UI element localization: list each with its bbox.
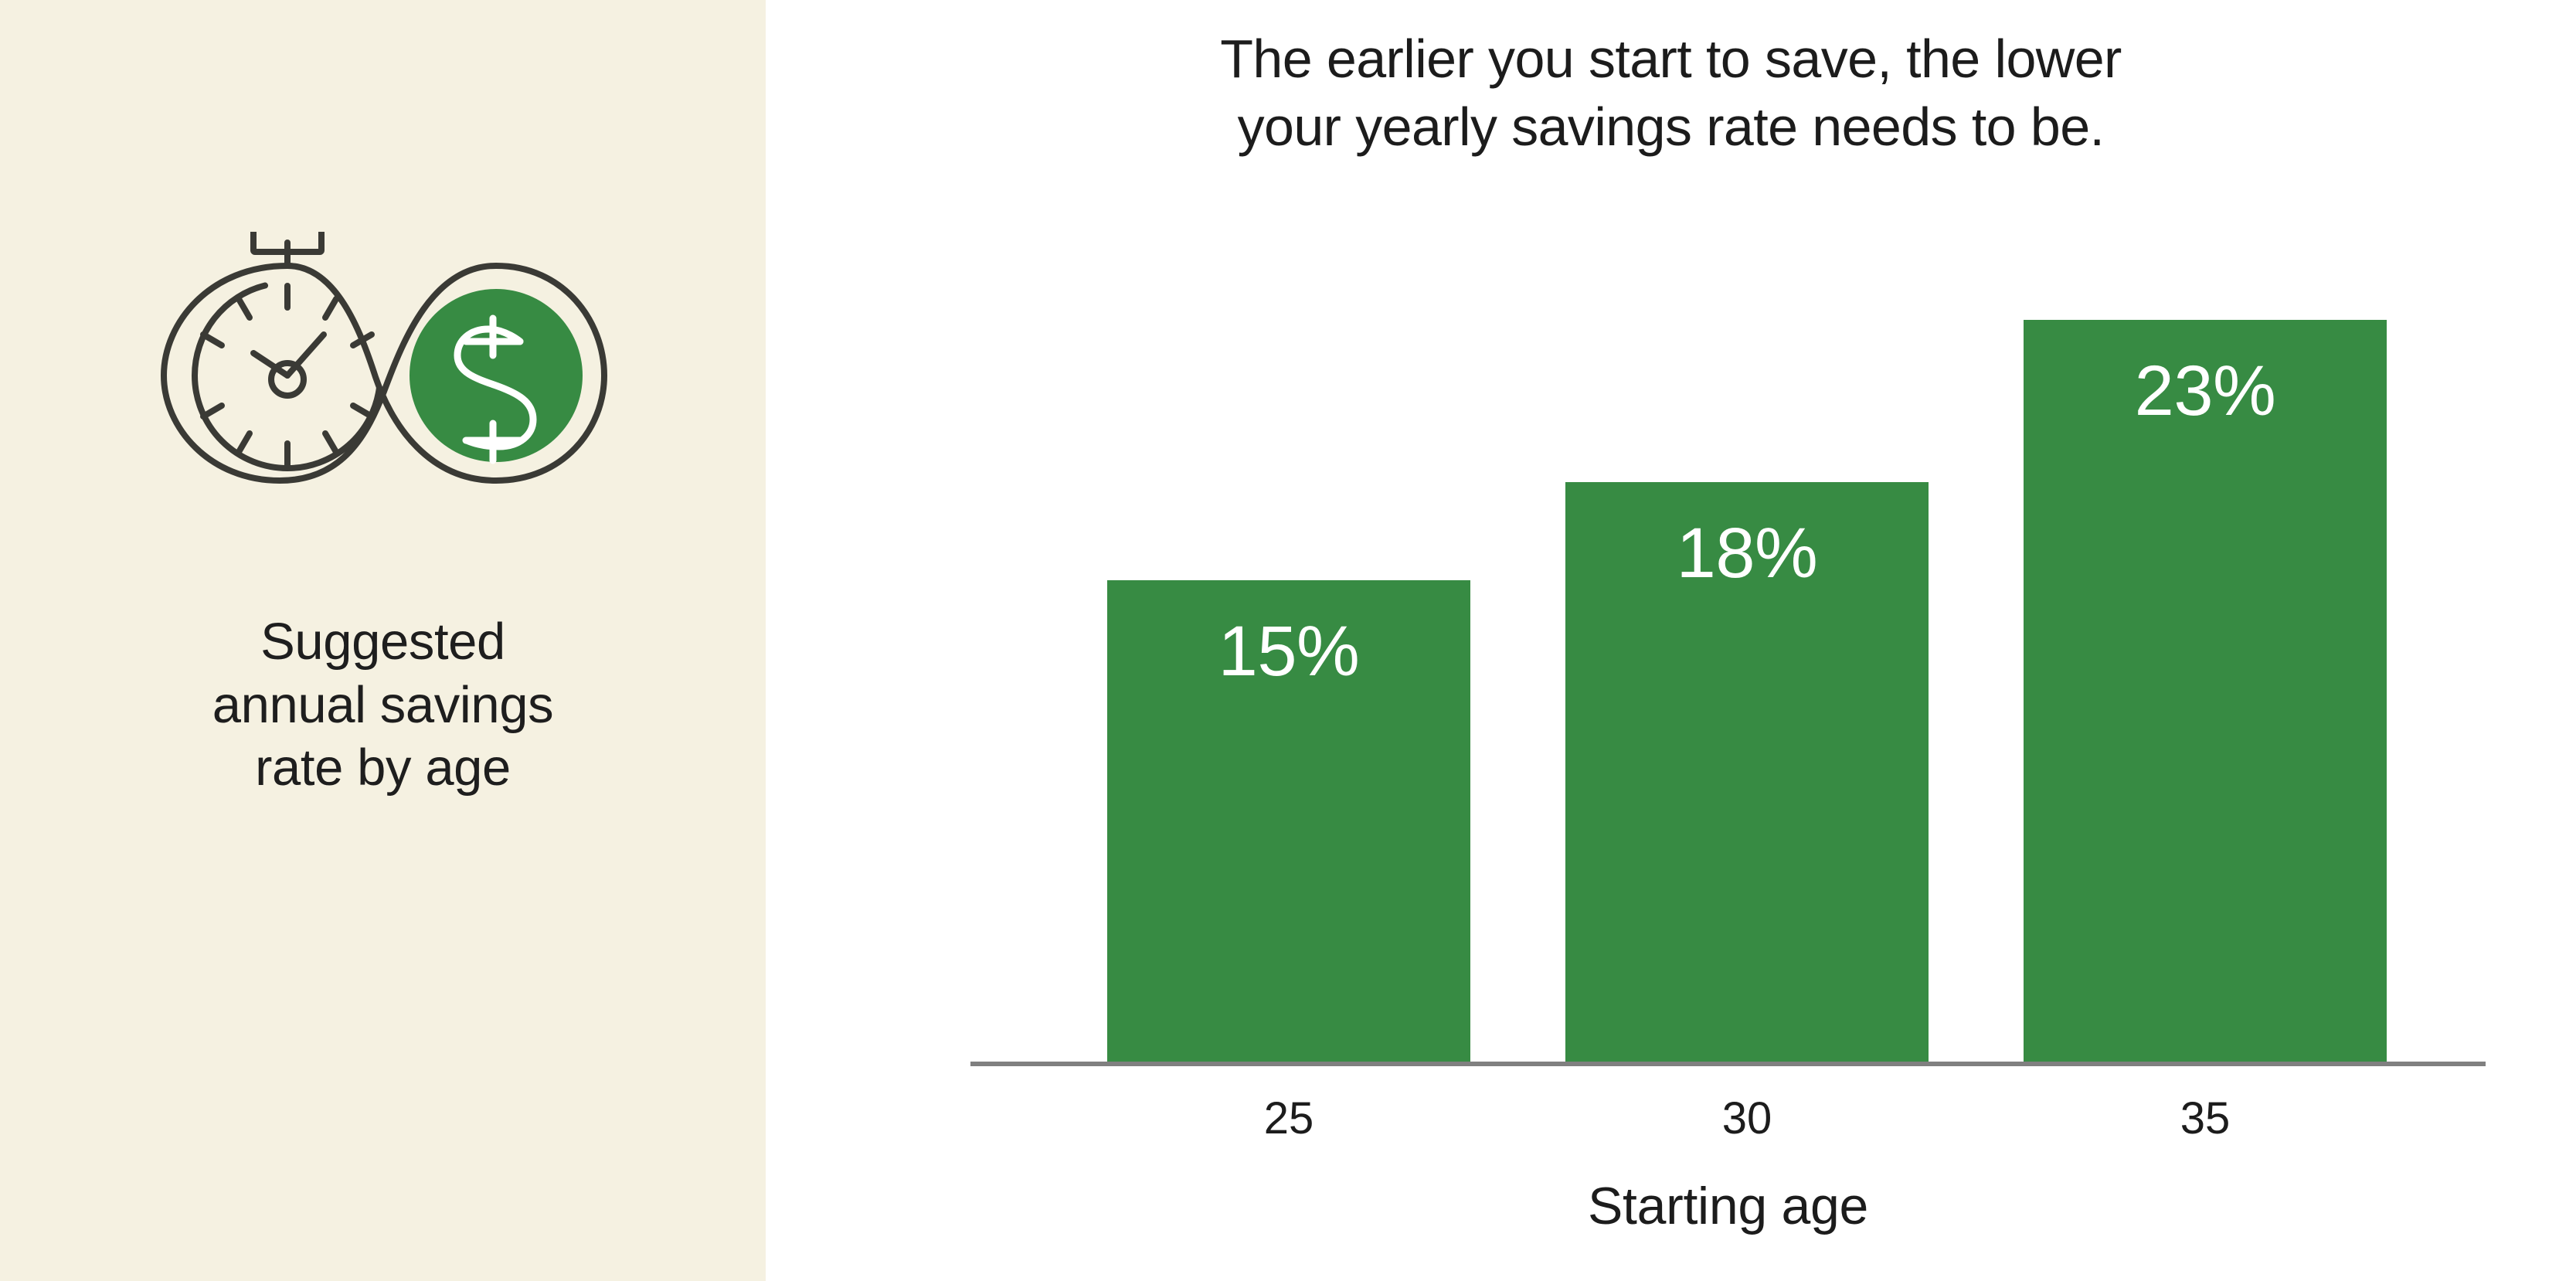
- x-axis-line: [970, 1062, 2486, 1066]
- stopwatch-dollar-infinity-icon: [136, 232, 630, 494]
- x-tick-label-25: 25: [1107, 1092, 1470, 1144]
- bar-35[interactable]: 23%: [2024, 320, 2387, 1064]
- bar-value-label-30: 18%: [1565, 518, 1929, 589]
- chart-panel: The earlier you start to save, the lower…: [766, 0, 2576, 1281]
- bar-30[interactable]: 18%: [1565, 482, 1929, 1064]
- bar-value-label-35: 23%: [2024, 355, 2387, 426]
- infographic-root: Suggested annual savings rate by age The…: [0, 0, 2576, 1281]
- x-axis-title: Starting age: [970, 1176, 2486, 1236]
- bar-chart-plot: 15% 18% 23% 25 30 35 Starting age: [766, 0, 2576, 1281]
- caption-line-2: annual savings: [62, 674, 704, 737]
- icon-container: [0, 232, 766, 494]
- left-panel: Suggested annual savings rate by age: [0, 0, 766, 1281]
- left-panel-caption: Suggested annual savings rate by age: [0, 610, 766, 800]
- x-tick-label-30: 30: [1565, 1092, 1929, 1144]
- bar-25[interactable]: 15%: [1107, 580, 1470, 1064]
- x-tick-label-35: 35: [2024, 1092, 2387, 1144]
- caption-line-3: rate by age: [62, 736, 704, 800]
- bar-value-label-25: 15%: [1107, 616, 1470, 687]
- caption-line-1: Suggested: [62, 610, 704, 674]
